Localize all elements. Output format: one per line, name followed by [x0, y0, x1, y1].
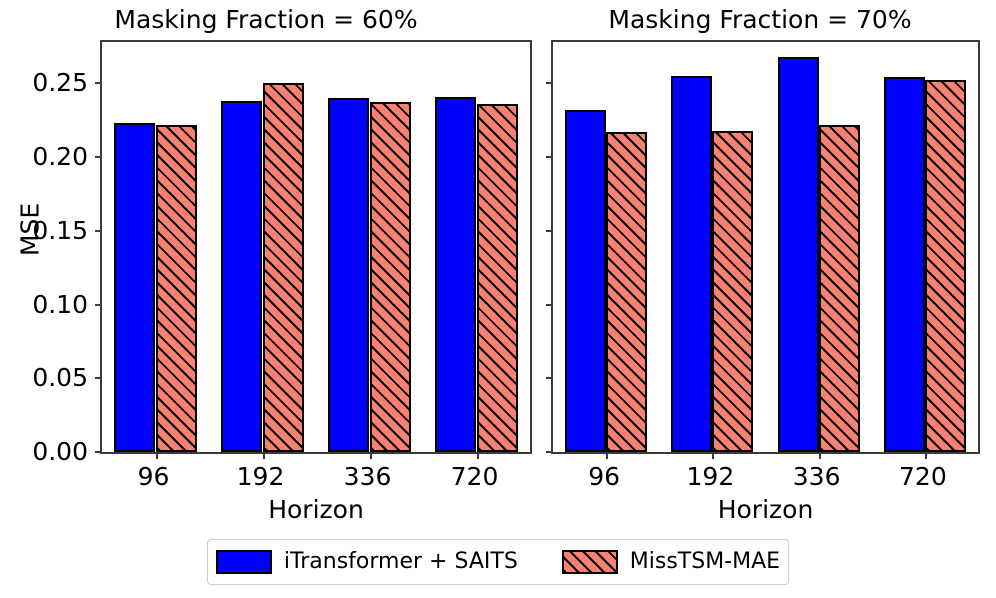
x-tick-mark — [925, 452, 927, 459]
bar-itransformer-saits-720 — [435, 97, 476, 452]
bar-misstsm-mae-96 — [156, 125, 197, 452]
legend-entry-2[interactable]: MissTSM-MAE — [562, 549, 780, 575]
bar-itransformer-saits-720 — [884, 77, 925, 452]
x-tick-mark — [606, 452, 608, 459]
x-tick-label-96: 96 — [109, 462, 199, 492]
y-tick-label: 0.10 — [32, 290, 88, 320]
plot-area-left: 0.000.050.100.150.200.25 — [100, 40, 532, 454]
hatched-salmon-swatch — [562, 550, 618, 574]
y-tick-mark — [546, 451, 553, 453]
y-tick-mark — [546, 377, 553, 379]
x-tick-mark — [263, 452, 265, 459]
bar-itransformer-saits-96 — [565, 110, 606, 452]
y-tick-label: 0.05 — [32, 363, 88, 393]
legend-label: iTransformer + SAITS — [284, 549, 518, 575]
subplot-title-right: Masking Fraction = 70% — [540, 6, 980, 34]
y-tick-label: 0.00 — [32, 437, 88, 467]
x-tick-mark — [156, 452, 158, 459]
x-tick-label-720: 720 — [878, 462, 968, 492]
x-tick-label-96: 96 — [559, 462, 649, 492]
bar-misstsm-mae-96 — [606, 132, 647, 452]
bar-itransformer-saits-192 — [221, 101, 262, 452]
x-axis-label-right: Horizon — [551, 496, 980, 524]
x-tick-mark — [370, 452, 372, 459]
y-tick-mark — [95, 82, 102, 84]
bar-misstsm-mae-720 — [925, 80, 966, 452]
legend: iTransformer + SAITSMissTSM-MAE — [207, 539, 789, 585]
bar-itransformer-saits-192 — [671, 76, 712, 452]
x-tick-label-192: 192 — [216, 462, 306, 492]
bar-misstsm-mae-336 — [370, 102, 411, 452]
y-tick-label: 0.20 — [32, 142, 88, 172]
y-tick-mark — [546, 230, 553, 232]
x-tick-label-192: 192 — [665, 462, 755, 492]
y-tick-mark — [95, 377, 102, 379]
subplot-title-left: Masking Fraction = 60% — [0, 6, 532, 34]
y-tick-mark — [95, 156, 102, 158]
y-tick-mark — [95, 451, 102, 453]
y-tick-mark — [546, 82, 553, 84]
bar-itransformer-saits-96 — [114, 123, 155, 452]
solid-blue-swatch — [216, 550, 272, 574]
x-tick-mark — [819, 452, 821, 459]
y-tick-mark — [546, 156, 553, 158]
x-tick-label-336: 336 — [772, 462, 862, 492]
bar-itransformer-saits-336 — [778, 57, 819, 452]
bar-misstsm-mae-336 — [819, 125, 860, 452]
x-tick-mark — [477, 452, 479, 459]
legend-label: MissTSM-MAE — [630, 549, 780, 575]
subplot-masking-60: Masking Fraction = 60% MSE 0.000.050.100… — [0, 0, 540, 520]
bar-misstsm-mae-192 — [712, 131, 753, 453]
y-tick-mark — [95, 304, 102, 306]
x-axis-label-left: Horizon — [100, 496, 532, 524]
bar-itransformer-saits-336 — [328, 98, 369, 452]
legend-entry-1[interactable]: iTransformer + SAITS — [216, 549, 518, 575]
x-tick-label-720: 720 — [430, 462, 520, 492]
bar-misstsm-mae-192 — [263, 83, 304, 452]
y-tick-mark — [546, 304, 553, 306]
y-tick-mark — [95, 230, 102, 232]
y-tick-label: 0.25 — [32, 68, 88, 98]
plot-area-right — [551, 40, 980, 454]
figure: Masking Fraction = 60% MSE 0.000.050.100… — [0, 0, 996, 598]
x-tick-label-336: 336 — [323, 462, 413, 492]
x-tick-mark — [712, 452, 714, 459]
y-tick-label: 0.15 — [32, 216, 88, 246]
subplot-masking-70: Masking Fraction = 70% Horizon 961923367… — [540, 0, 996, 520]
bar-misstsm-mae-720 — [477, 104, 518, 452]
